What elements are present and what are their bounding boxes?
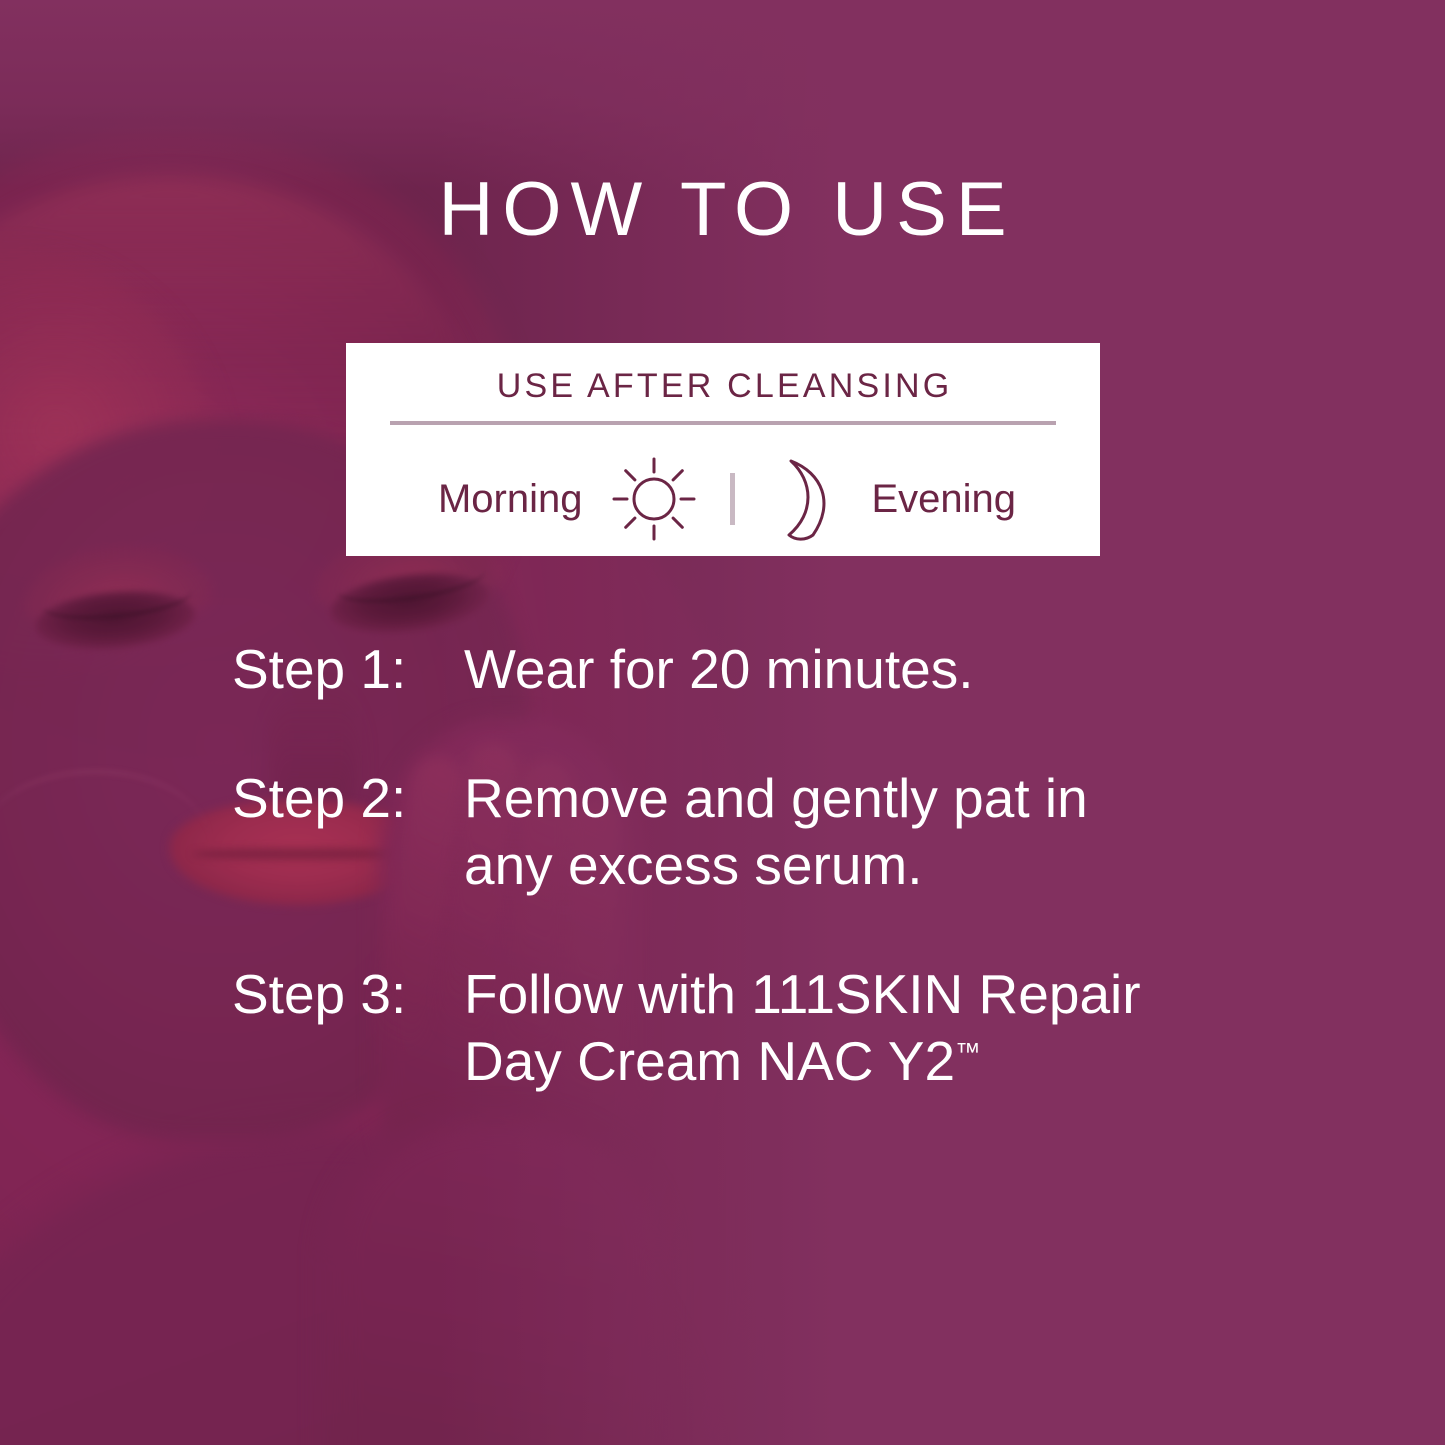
step-line: any excess serum. <box>464 832 1292 899</box>
moon-icon <box>765 455 843 543</box>
usage-card-divider <box>390 421 1056 425</box>
step-label-1: Step 1: <box>232 636 464 703</box>
step-line-with-trademark: Day Cream NAC Y2™ <box>464 1028 1292 1095</box>
step-label-3: Step 3: <box>232 961 464 1028</box>
sun-icon <box>608 453 700 545</box>
vertical-separator <box>730 473 735 525</box>
trademark-symbol: ™ <box>955 1039 981 1067</box>
usage-card-schedule-row: Morning <box>346 455 1100 543</box>
steps-list: Step 1: Wear for 20 minutes. Step 2: Rem… <box>232 636 1292 1095</box>
step-line: Wear for 20 minutes. <box>464 636 1292 703</box>
usage-card: USE AFTER CLEANSING Morning <box>346 343 1100 556</box>
step-line-text: Day Cream NAC Y2 <box>464 1030 955 1092</box>
step-item-2: Step 2: Remove and gently pat in any exc… <box>232 765 1292 899</box>
evening-label: Evening <box>871 479 1016 519</box>
step-item-1: Step 1: Wear for 20 minutes. <box>232 636 1292 703</box>
step-item-3: Step 3: Follow with 111SKIN Repair Day C… <box>232 961 1292 1095</box>
morning-label: Morning <box>438 479 583 519</box>
step-body-2: Remove and gently pat in any excess seru… <box>464 765 1292 899</box>
step-line: Remove and gently pat in <box>464 765 1292 832</box>
step-body-3: Follow with 111SKIN Repair Day Cream NAC… <box>464 961 1292 1095</box>
how-to-use-panel: HOW TO USE USE AFTER CLEANSING Morning <box>0 0 1445 1445</box>
page-title: HOW TO USE <box>0 172 1445 248</box>
step-line: Follow with 111SKIN Repair <box>464 961 1292 1028</box>
usage-card-header: USE AFTER CLEANSING <box>346 369 1100 403</box>
step-label-2: Step 2: <box>232 765 464 832</box>
step-body-1: Wear for 20 minutes. <box>464 636 1292 703</box>
